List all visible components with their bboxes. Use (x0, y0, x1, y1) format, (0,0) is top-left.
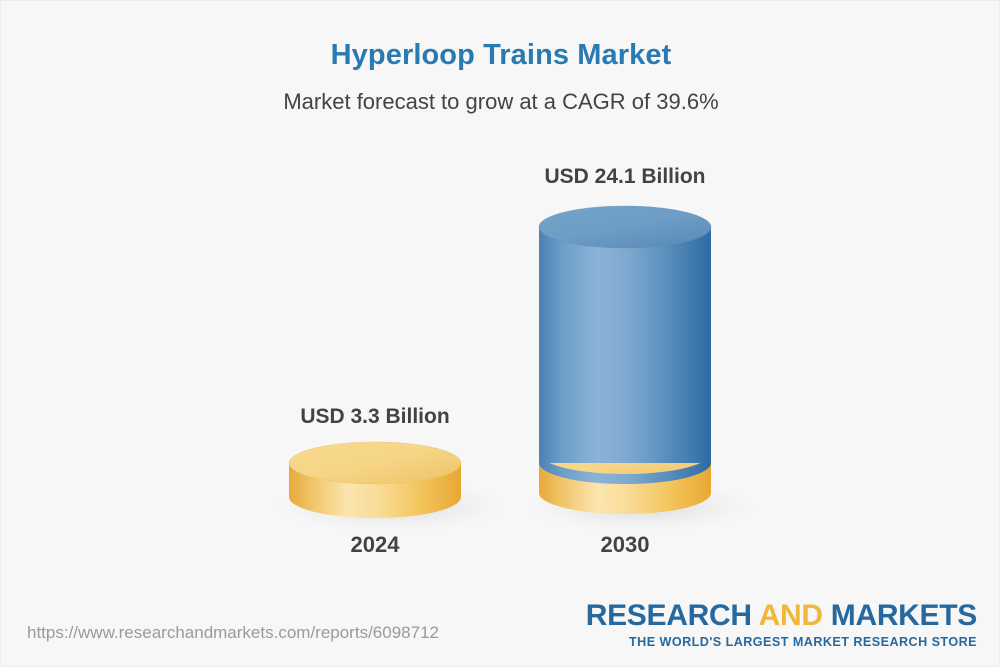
value-label-2030: USD 24.1 Billion (539, 165, 711, 189)
chart-plot-area: USD 3.3 Billion USD 24.1 Billion 2024 20… (1, 1, 1000, 601)
category-label-2024: 2024 (289, 532, 461, 558)
research-and-markets-logo: RESEARCH AND MARKETS THE WORLD'S LARGEST… (586, 601, 977, 649)
bar-2024 (276, 442, 506, 532)
logo-word-research: RESEARCH (586, 599, 752, 632)
source-url[interactable]: https://www.researchandmarkets.com/repor… (27, 623, 439, 643)
logo-wordmark: RESEARCH AND MARKETS (586, 601, 977, 631)
bar-2030 (526, 206, 756, 532)
logo-word-markets: MARKETS (831, 599, 977, 632)
logo-word-and: AND (752, 599, 831, 632)
value-label-2024: USD 3.3 Billion (289, 405, 461, 429)
infographic-canvas: Hyperloop Trains Market Market forecast … (0, 0, 1000, 667)
category-label-2030: 2030 (539, 532, 711, 558)
cylinder-bar-chart (1, 1, 1000, 601)
logo-tagline: THE WORLD'S LARGEST MARKET RESEARCH STOR… (586, 636, 977, 649)
